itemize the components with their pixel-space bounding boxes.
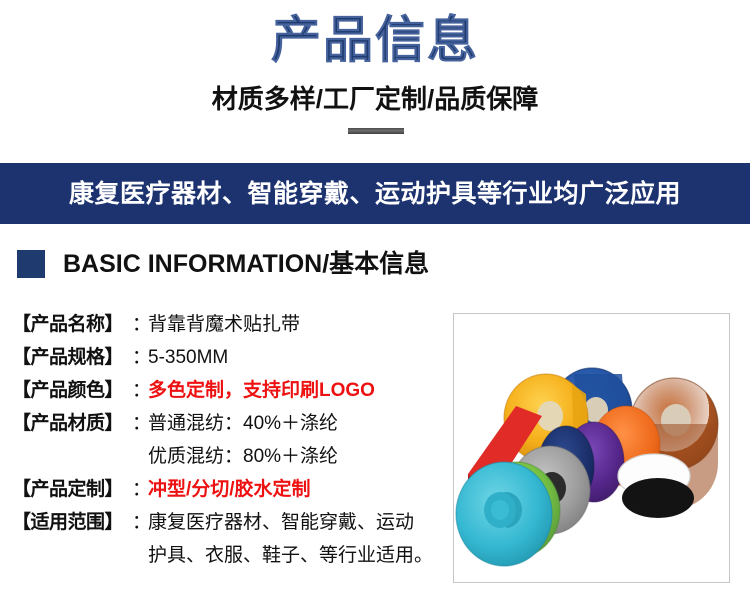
spec-value: 普通混纺：40%＋涤纶 bbox=[148, 407, 442, 440]
spec-label: 【产品规格】 bbox=[12, 341, 132, 374]
spec-label: 【产品定制】 bbox=[12, 473, 132, 506]
spec-value: 优质混纺：80%＋涤纶 bbox=[148, 440, 442, 473]
spec-row: 【产品定制】：冲型/分切/胶水定制 bbox=[12, 473, 442, 506]
spec-row: 【产品名称】：背靠背魔术贴扎带 bbox=[12, 308, 442, 341]
spec-row: 【产品规格】：5-350MM bbox=[12, 341, 442, 374]
spec-colon: ： bbox=[132, 473, 148, 506]
spec-label: 【产品材质】 bbox=[12, 407, 132, 440]
title-divider bbox=[347, 127, 405, 135]
spec-row: 【适用范围】：护具、衣服、鞋子、等行业适用。 bbox=[12, 539, 442, 572]
page-header: 产品信息 材质多样/工厂定制/品质保障 bbox=[0, 0, 750, 163]
spec-row: 【产品材质】：普通混纺：40%＋涤纶 bbox=[12, 407, 442, 440]
spec-row: 【产品颜色】：多色定制，支持印刷LOGO bbox=[12, 374, 442, 407]
spec-colon: ： bbox=[132, 308, 148, 341]
spec-label: 【适用范围】 bbox=[12, 506, 132, 539]
application-banner: 康复医疗器材、智能穿戴、运动护具等行业均广泛应用 bbox=[0, 163, 750, 224]
roll-black bbox=[622, 478, 694, 518]
spec-colon: ： bbox=[132, 374, 148, 407]
page-title: 产品信息 bbox=[0, 11, 750, 69]
spec-colon: ： bbox=[132, 506, 148, 539]
specification-list: 【产品名称】：背靠背魔术贴扎带【产品规格】：5-350MM【产品颜色】：多色定制… bbox=[12, 308, 442, 572]
page-subtitle: 材质多样/工厂定制/品质保障 bbox=[0, 83, 750, 115]
spec-row: 【产品材质】：优质混纺：80%＋涤纶 bbox=[12, 440, 442, 473]
spec-colon: ： bbox=[132, 407, 148, 440]
square-bullet-icon bbox=[17, 250, 45, 278]
roll-teal bbox=[456, 462, 552, 566]
spec-label: 【产品颜色】 bbox=[12, 374, 132, 407]
application-banner-text: 康复医疗器材、智能穿戴、运动护具等行业均广泛应用 bbox=[69, 179, 681, 209]
basic-information-heading: BASIC INFORMATION/基本信息 bbox=[17, 250, 429, 278]
spec-value: 康复医疗器材、智能穿戴、运动 bbox=[148, 506, 442, 539]
spec-value: 背靠背魔术贴扎带 bbox=[148, 308, 442, 341]
spec-label: 【产品名称】 bbox=[12, 308, 132, 341]
basic-information-heading-text: BASIC INFORMATION/基本信息 bbox=[63, 250, 429, 278]
spec-value: 冲型/分切/胶水定制 bbox=[148, 473, 442, 506]
spec-value: 多色定制，支持印刷LOGO bbox=[148, 374, 442, 407]
spec-colon: ： bbox=[132, 341, 148, 374]
spec-value: 护具、衣服、鞋子、等行业适用。 bbox=[148, 539, 442, 572]
product-image-velcro-rolls bbox=[454, 314, 729, 582]
spec-row: 【适用范围】：康复医疗器材、智能穿戴、运动 bbox=[12, 506, 442, 539]
product-image-frame bbox=[453, 313, 730, 583]
spec-value: 5-350MM bbox=[148, 341, 442, 374]
